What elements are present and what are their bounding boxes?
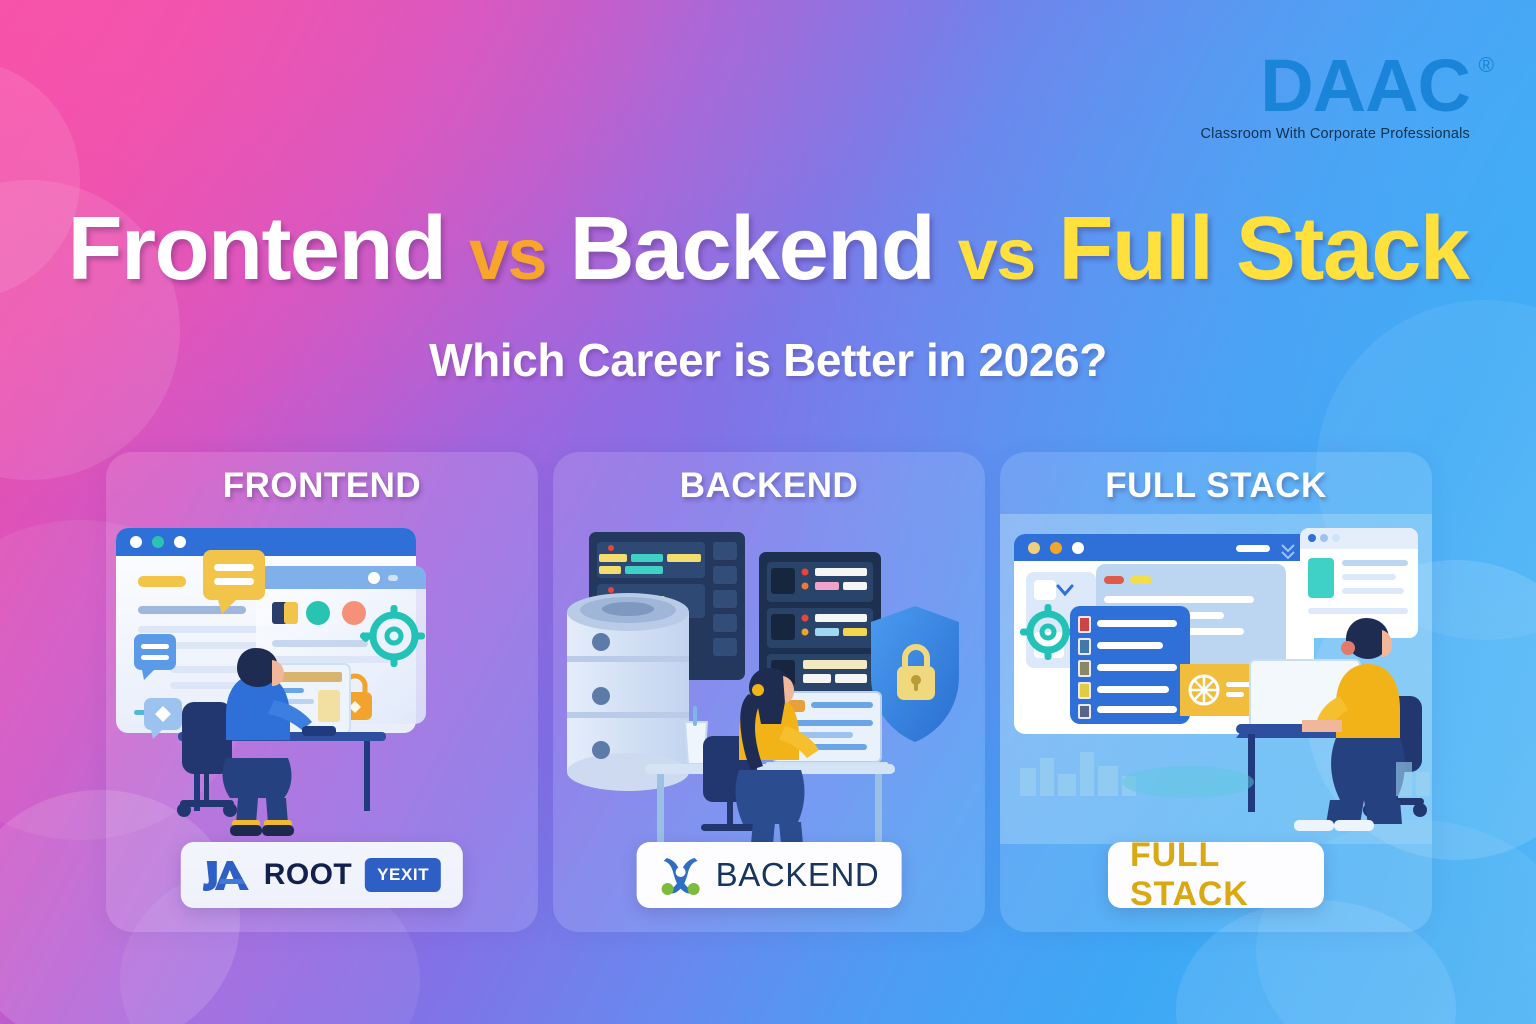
checklist-panel: [1070, 606, 1190, 724]
poster-canvas: DAAC ® Classroom With Corporate Professi…: [0, 0, 1536, 1024]
database-icon: [567, 593, 689, 791]
registered-trademark-icon: ®: [1479, 54, 1494, 78]
title-frontend: Frontend: [68, 199, 446, 299]
badge-label-backend: BACKEND: [716, 856, 880, 894]
page-title: Frontend vs Backend vs Full Stack: [0, 198, 1536, 301]
backend-illustration: [553, 514, 985, 844]
card-fullstack[interactable]: FULL STACK: [1000, 452, 1432, 932]
badge-frontend[interactable]: ROOT YEXIT: [181, 842, 463, 908]
comparison-cards: FRONTEND: [100, 452, 1445, 942]
card-title-frontend: FRONTEND: [106, 466, 538, 506]
badge-label-fullstack: FULL STACK: [1130, 836, 1302, 914]
title-fullstack: Full Stack: [1058, 199, 1468, 299]
badge-backend[interactable]: BACKEND: [637, 842, 902, 908]
ja-logo-icon: [203, 857, 251, 893]
frontend-illustration: [106, 514, 538, 844]
logo-wordmark: DAAC: [1260, 44, 1470, 127]
card-title-backend: BACKEND: [553, 466, 985, 506]
logo-tagline: Classroom With Corporate Professionals: [1201, 126, 1471, 142]
title-vs-second: vs: [958, 215, 1035, 295]
frontend-scene: [106, 514, 538, 844]
yexit-button[interactable]: YEXIT: [365, 858, 441, 892]
shield-lock-icon: [871, 606, 959, 742]
backend-crossed-icon: [659, 854, 703, 896]
api-tag: [1180, 664, 1260, 716]
badge-label-frontend: ROOT: [264, 858, 352, 892]
fullstack-scene: [1000, 514, 1432, 844]
card-frontend[interactable]: FRONTEND: [106, 452, 538, 932]
fullstack-illustration: [1000, 514, 1432, 844]
badge-fullstack[interactable]: FULL STACK: [1108, 842, 1324, 908]
brand-logo: DAAC ® Classroom With Corporate Professi…: [1201, 50, 1471, 142]
title-backend: Backend: [570, 199, 935, 299]
title-vs-first: vs: [469, 215, 546, 295]
backend-scene: [553, 514, 985, 844]
page-subtitle: Which Career is Better in 2026?: [0, 333, 1536, 387]
card-title-fullstack: FULL STACK: [1000, 466, 1432, 506]
card-backend[interactable]: BACKEND: [553, 452, 985, 932]
